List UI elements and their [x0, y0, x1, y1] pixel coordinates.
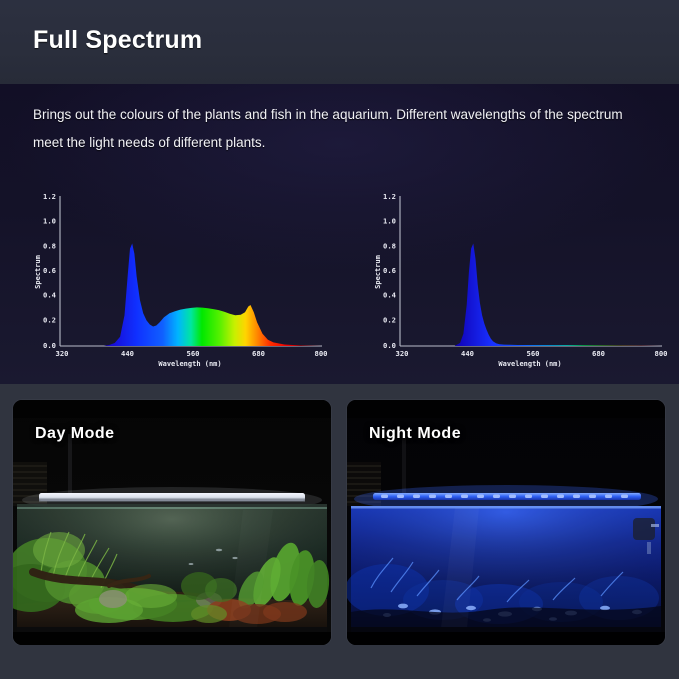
svg-text:0.2: 0.2 [383, 315, 396, 324]
svg-text:680: 680 [592, 349, 605, 358]
day-mode-photo[interactable]: Day Mode [13, 400, 331, 645]
svg-text:0.2: 0.2 [43, 315, 56, 324]
intro-paragraph: Brings out the colours of the plants and… [33, 101, 633, 157]
svg-text:Spectrum: Spectrum [374, 255, 382, 289]
svg-text:Wavelength (nm): Wavelength (nm) [158, 360, 221, 368]
svg-text:0.6: 0.6 [383, 266, 396, 275]
page-title: Full Spectrum [33, 26, 202, 55]
svg-text:680: 680 [252, 349, 265, 358]
footer-spacer [0, 645, 679, 679]
svg-text:0.0: 0.0 [383, 341, 396, 350]
svg-text:0.8: 0.8 [383, 241, 396, 250]
mode-comparison: Day Mode [0, 384, 679, 679]
svg-text:1.2: 1.2 [43, 192, 56, 201]
svg-text:800: 800 [655, 349, 668, 358]
day-mode-label: Day Mode [35, 425, 115, 443]
svg-text:Wavelength (nm): Wavelength (nm) [498, 360, 561, 368]
chart1-spectrum-area [104, 244, 322, 347]
svg-text:0.4: 0.4 [383, 291, 396, 300]
chart-full-spectrum: 1.2 1.0 0.8 0.6 0.4 0.2 0.0 320 440 560 … [22, 182, 342, 377]
svg-text:0.0: 0.0 [43, 341, 56, 350]
chart2-spectrum-area [455, 244, 662, 347]
svg-text:1.2: 1.2 [383, 192, 396, 201]
svg-text:440: 440 [461, 349, 474, 358]
svg-text:320: 320 [56, 349, 69, 358]
product-feature-page: Full Spectrum Brings out the colours of … [0, 0, 679, 679]
svg-text:560: 560 [527, 349, 540, 358]
svg-text:1.0: 1.0 [383, 217, 396, 226]
night-mode-label: Night Mode [369, 425, 461, 443]
svg-text:560: 560 [187, 349, 200, 358]
svg-text:800: 800 [315, 349, 328, 358]
svg-text:1.0: 1.0 [43, 217, 56, 226]
chart2-axes [400, 196, 662, 346]
svg-text:0.8: 0.8 [43, 241, 56, 250]
svg-text:440: 440 [121, 349, 134, 358]
night-mode-photo[interactable]: Night Mode [347, 400, 665, 645]
svg-text:0.6: 0.6 [43, 266, 56, 275]
svg-text:0.4: 0.4 [43, 291, 56, 300]
svg-text:Spectrum: Spectrum [34, 255, 42, 289]
chart-night-spectrum: 1.2 1.0 0.8 0.6 0.4 0.2 0.0 320 440 560 … [362, 182, 679, 377]
header-band: Full Spectrum [0, 0, 679, 84]
spectrum-charts: 1.2 1.0 0.8 0.6 0.4 0.2 0.0 320 440 560 … [0, 182, 679, 377]
svg-text:320: 320 [396, 349, 409, 358]
